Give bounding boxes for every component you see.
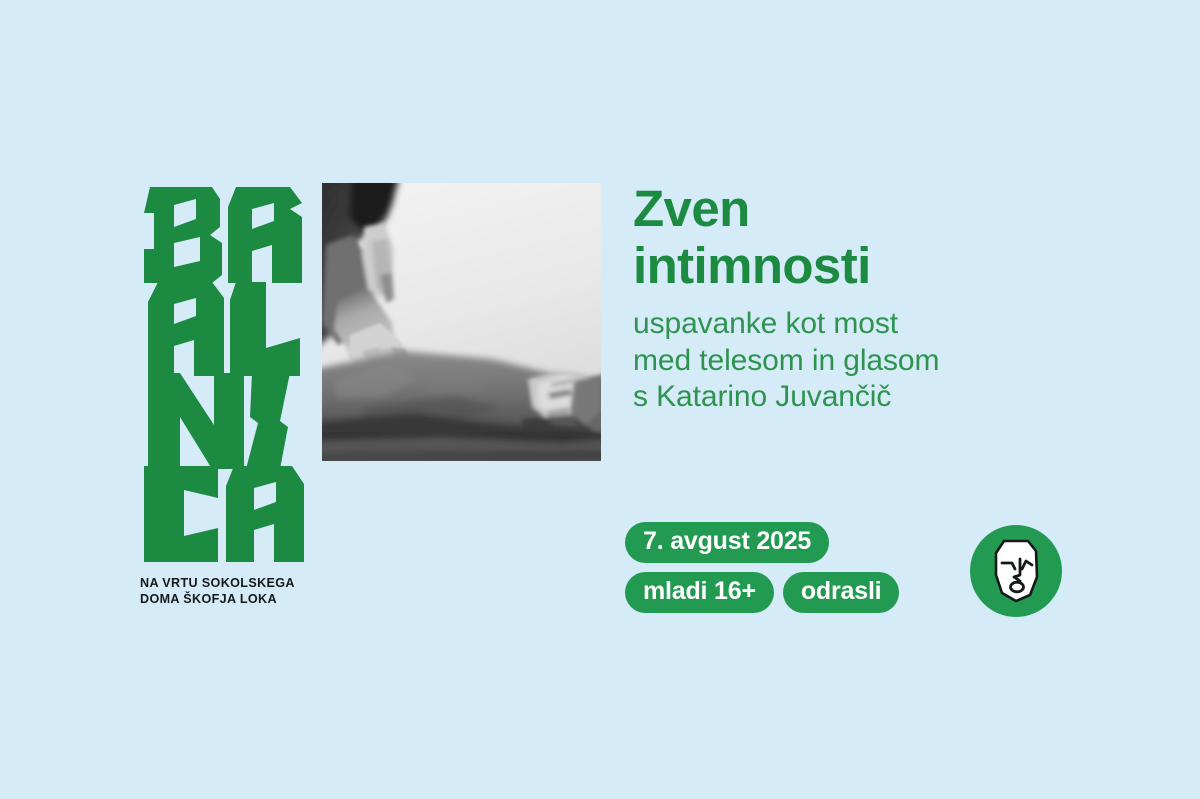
- logo-row-ni: [140, 369, 310, 473]
- page-title: Zven intimnosti: [633, 180, 1063, 294]
- face-mask-icon[interactable]: [970, 525, 1062, 617]
- logo-caption-line-1: NA VRTU SOKOLSKEGA: [140, 576, 350, 592]
- page-subtitle-line-3: s Katarino Juvančič: [633, 379, 1073, 416]
- logo-row-ba: [140, 183, 310, 287]
- page-subtitle: uspavanke kot most med telesom in glasom…: [633, 306, 1073, 416]
- bralnica-logo[interactable]: [140, 183, 310, 558]
- logo-caption-line-2: DOMA ŠKOFJA LOKA: [140, 592, 350, 608]
- logo-caption: NA VRTU SOKOLSKEGA DOMA ŠKOFJA LOKA: [140, 576, 350, 607]
- event-photo: [322, 183, 601, 461]
- logo-row-ca: [140, 462, 310, 566]
- page-subtitle-line-1: uspavanke kot most: [633, 306, 1073, 343]
- page-subtitle-line-2: med telesom in glasom: [633, 343, 1073, 380]
- page-title-line-1: Zven: [633, 180, 1063, 237]
- audience-badge-adults[interactable]: odrasli: [783, 572, 900, 613]
- logo-row-al: [140, 276, 310, 380]
- poster-canvas: NA VRTU SOKOLSKEGA DOMA ŠKOFJA LOKA: [0, 0, 1200, 799]
- audience-badge-youth[interactable]: mladi 16+: [625, 572, 774, 613]
- page-title-line-2: intimnosti: [633, 237, 1063, 294]
- logo-wordmark-rows: [140, 183, 310, 558]
- date-badge[interactable]: 7. avgust 2025: [625, 522, 829, 563]
